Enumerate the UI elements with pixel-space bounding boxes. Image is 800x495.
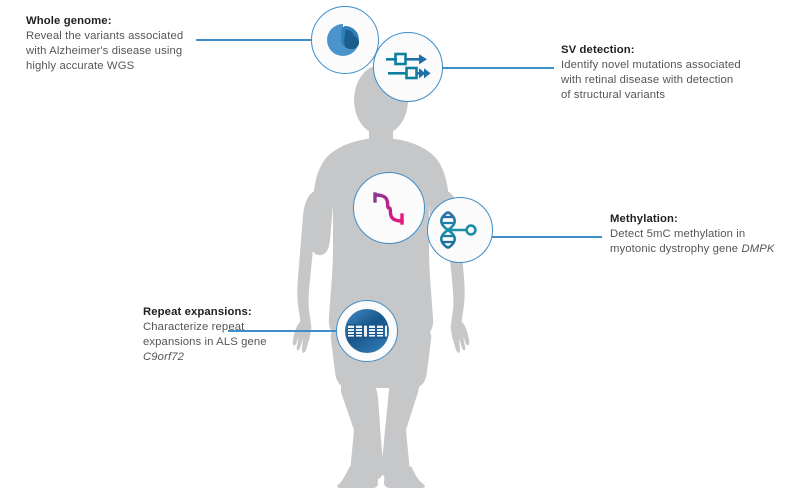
infographic-canvas: Whole genome: Reveal the variants associ…: [0, 0, 800, 495]
gene-name: DMPK: [741, 243, 774, 255]
icon-bubble-whole-genome[interactable]: [311, 6, 379, 74]
callout-sv-detection: SV detection: Identify novel mutations a…: [561, 43, 776, 103]
callout-body: Characterize repeat expansions in ALS ge…: [143, 320, 293, 365]
dna-strand-icon: [366, 185, 412, 231]
connector-methylation: [490, 236, 602, 238]
icon-bubble-methylation[interactable]: [427, 197, 493, 263]
icon-bubble-dna-strand[interactable]: [353, 172, 425, 244]
callout-title: Repeat expansions:: [143, 305, 293, 320]
gene-name: C9orf72: [143, 351, 184, 363]
callout-title: Whole genome:: [26, 14, 201, 29]
callout-title: SV detection:: [561, 43, 776, 58]
connector-whole-genome: [196, 39, 314, 41]
callout-line-with-gene: C9orf72: [143, 350, 293, 365]
icon-bubble-sv-detection[interactable]: [373, 32, 443, 102]
callout-whole-genome: Whole genome: Reveal the variants associ…: [26, 14, 201, 74]
repeat-expansion-icon: [343, 307, 391, 355]
callout-line-with-gene: myotonic dystrophy gene DMPK: [610, 242, 800, 257]
icon-bubble-repeat-expansions[interactable]: [336, 300, 398, 362]
callout-methylation: Methylation: Detect 5mC methylation in m…: [610, 212, 800, 257]
structural-variant-icon: [384, 47, 432, 87]
connector-sv-detection: [441, 67, 554, 69]
callout-title: Methylation:: [610, 212, 800, 227]
callout-body: Reveal the variants associated with Alzh…: [26, 29, 201, 74]
callout-repeat-expansions: Repeat expansions: Characterize repeat e…: [143, 305, 293, 365]
methylated-dna-icon: [438, 208, 482, 252]
callout-body: Detect 5mC methylation in myotonic dystr…: [610, 227, 800, 257]
genome-assembly-icon: [323, 18, 367, 62]
callout-body: Identify novel mutations associated with…: [561, 58, 776, 103]
